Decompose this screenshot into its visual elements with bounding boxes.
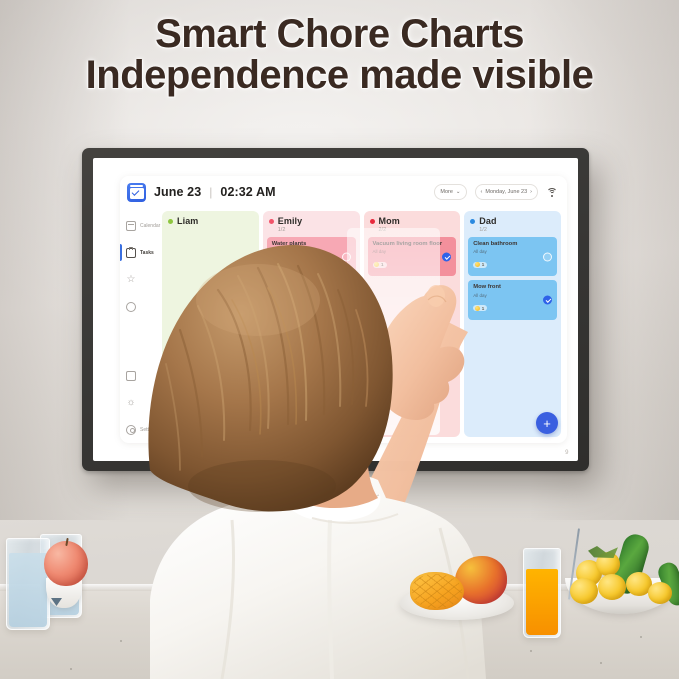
task-title: Vacuum living room floor — [373, 241, 452, 248]
sidebar-item-calendar-label: Calendar — [140, 223, 160, 229]
apple — [44, 541, 88, 586]
task-reward-value: 1 — [280, 262, 283, 267]
column-dad-name: Dad — [479, 216, 496, 226]
tasks-icon — [126, 248, 136, 258]
coin-icon — [475, 262, 480, 267]
add-task-button[interactable]: + — [536, 412, 558, 434]
column-emily-header: Emily — [267, 216, 356, 226]
member-dot-icon — [370, 219, 375, 224]
task-reward-badge: 1 — [473, 305, 487, 311]
sidebar-item-settings[interactable]: Settings — [120, 416, 162, 443]
coin-icon — [273, 262, 278, 267]
yellow-tomato — [648, 582, 672, 604]
column-emily-count: 1/2 — [267, 227, 356, 233]
device-brand-mark: 9 — [565, 450, 569, 456]
column-mom-header: Mom — [368, 216, 457, 226]
header-separator: | — [209, 185, 212, 199]
sidebar-item-notes[interactable] — [120, 362, 162, 389]
coin-icon — [273, 306, 278, 311]
task-card[interactable]: Vacuum living room floor All day 1 — [368, 237, 457, 276]
task-schedule: All day — [272, 249, 351, 254]
task-card[interactable]: Water plants All day 1 — [267, 237, 356, 276]
gear-icon — [126, 425, 136, 435]
header-date: June 23 — [154, 185, 201, 199]
column-mom-count: 2/2 — [368, 227, 457, 233]
task-reward-value: 1 — [482, 262, 485, 267]
display-screen[interactable]: June 23 | 02:32 AM More ⌄ ‹ Monday, June… — [93, 158, 578, 461]
task-board: Liam Emily 1/2 Water plants All — [162, 208, 567, 443]
task-title: Water plants — [272, 241, 351, 248]
current-day-label: Monday, June 23 — [485, 189, 527, 195]
column-liam[interactable]: Liam — [162, 211, 259, 437]
circle-icon — [126, 302, 136, 312]
column-liam-name: Liam — [177, 216, 198, 226]
chevron-left-icon[interactable]: ‹ — [481, 189, 483, 195]
task-reward-badge: 1 — [272, 305, 286, 311]
task-reward-value: 1 — [280, 306, 283, 311]
task-title: Clean bathroom — [473, 241, 552, 248]
mango-dice-lines — [412, 574, 462, 608]
sidebar-item-rewards[interactable]: ☆ — [120, 266, 162, 293]
sidebar-item-calendar[interactable]: Calendar — [120, 212, 162, 239]
task-schedule: All day — [272, 293, 351, 298]
column-dad-count: 1/2 — [468, 227, 557, 233]
yellow-tomato — [570, 578, 598, 604]
task-title: Make bed — [272, 284, 351, 291]
task-schedule: All day — [473, 249, 552, 254]
egg-cup-pattern — [51, 598, 62, 606]
task-reward-badge: 1 — [272, 262, 286, 268]
task-card[interactable]: Clean bathroom All day 1 — [468, 237, 557, 276]
sidebar-item-tasks[interactable]: Tasks — [120, 239, 162, 266]
orange-juice-glass — [523, 548, 561, 638]
task-checkbox[interactable] — [442, 252, 451, 261]
column-dad[interactable]: Dad 1/2 Clean bathroom All day 1 — [464, 211, 561, 437]
header-time: 02:32 AM — [220, 185, 275, 199]
task-card[interactable]: Mow front All day 1 — [468, 280, 557, 319]
chevron-down-icon: ⌄ — [456, 189, 461, 195]
sidebar-item-tasks-label: Tasks — [140, 250, 154, 256]
date-navigator[interactable]: ‹ Monday, June 23 › — [475, 184, 538, 200]
yellow-tomato — [598, 574, 626, 600]
task-reward-badge: 1 — [473, 262, 487, 268]
column-dad-header: Dad — [468, 216, 557, 226]
task-reward-value: 1 — [381, 262, 384, 267]
water-glass — [6, 538, 50, 630]
column-liam-header: Liam — [166, 216, 255, 226]
task-checkbox[interactable] — [543, 252, 552, 261]
task-card[interactable]: Make bed All day 1 — [267, 280, 356, 319]
coin-icon — [374, 262, 379, 267]
task-title: Mow front — [473, 284, 552, 291]
more-label: More — [440, 189, 453, 195]
task-schedule: All day — [473, 293, 552, 298]
task-checkbox[interactable] — [543, 296, 552, 305]
star-icon: ☆ — [126, 275, 136, 285]
sidebar: Calendar Tasks ☆ — [120, 208, 162, 443]
column-mom-name: Mom — [379, 216, 400, 226]
chevron-right-icon[interactable]: › — [530, 189, 532, 195]
column-mom[interactable]: Mom 2/2 Vacuum living room floor All day… — [364, 211, 461, 437]
coin-icon — [475, 306, 480, 311]
notes-icon — [126, 371, 136, 381]
brightness-icon: ☼ — [126, 398, 136, 408]
task-schedule: All day — [373, 249, 452, 254]
chore-chart-app: June 23 | 02:32 AM More ⌄ ‹ Monday, June… — [120, 176, 567, 443]
member-dot-icon — [269, 219, 274, 224]
app-header: June 23 | 02:32 AM More ⌄ ‹ Monday, June… — [120, 176, 567, 208]
app-body: Calendar Tasks ☆ — [120, 208, 567, 443]
task-reward-value: 1 — [482, 306, 485, 311]
more-dropdown[interactable]: More ⌄ — [434, 184, 466, 200]
task-checkbox[interactable] — [342, 296, 351, 305]
task-reward-badge: 1 — [373, 262, 387, 268]
member-dot-icon — [168, 219, 173, 224]
calendar-icon — [126, 221, 136, 231]
sidebar-item-brightness[interactable]: ☼ — [120, 389, 162, 416]
wall-display-device: June 23 | 02:32 AM More ⌄ ‹ Monday, June… — [82, 148, 589, 471]
task-checkbox[interactable] — [342, 252, 351, 261]
column-emily-name: Emily — [278, 216, 303, 226]
calendar-check-app-icon[interactable] — [127, 183, 146, 202]
sidebar-item-settings-label: Settings — [140, 427, 158, 433]
wifi-icon[interactable] — [546, 187, 558, 197]
sidebar-item-members[interactable] — [120, 293, 162, 320]
member-dot-icon — [470, 219, 475, 224]
column-emily[interactable]: Emily 1/2 Water plants All day 1 — [263, 211, 360, 437]
